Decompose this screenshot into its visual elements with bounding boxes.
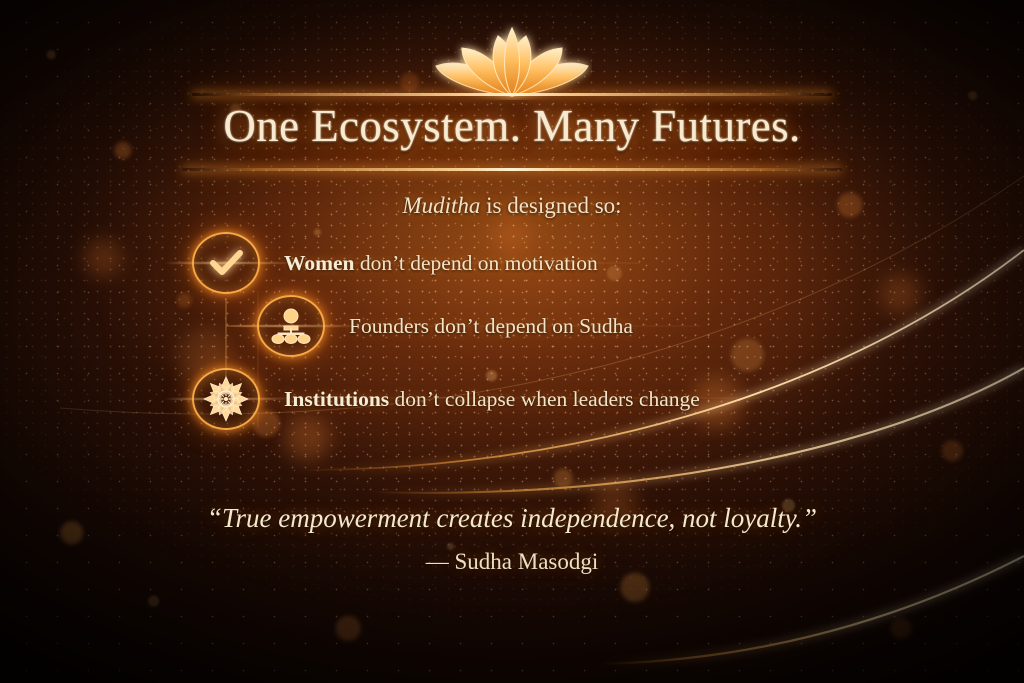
- list-item: Institutions don’t collapse when leaders…: [190, 364, 700, 434]
- quote-attribution: — Sudha Masodgi: [0, 549, 1024, 575]
- list-item-text: Women don’t depend on motivation: [284, 251, 598, 276]
- subtitle-emphasis: Muditha: [402, 193, 480, 218]
- page-title: One Ecosystem. Many Futures.: [0, 100, 1024, 152]
- slide-canvas: One Ecosystem. Many Futures. Muditha is …: [0, 0, 1024, 683]
- list-item-text: Institutions don’t collapse when leaders…: [284, 387, 700, 412]
- list-item-lead: Women: [284, 251, 354, 275]
- list-item-text: Founders don’t depend on Sudha: [349, 314, 633, 339]
- list-item: Women don’t depend on motivation: [190, 228, 598, 298]
- mandala-icon: [190, 364, 262, 434]
- divider-bottom: [182, 168, 842, 171]
- list-item-rest: Founders don’t depend on Sudha: [349, 314, 633, 338]
- list-item-rest: don’t depend on motivation: [354, 251, 597, 275]
- subtitle: Muditha is designed so:: [0, 193, 1024, 219]
- subtitle-rest: is designed so:: [480, 193, 621, 218]
- list-item-lead: Institutions: [284, 387, 389, 411]
- people-network-icon: [255, 291, 327, 361]
- checkmark-icon: [190, 228, 262, 298]
- list-item-rest: don’t collapse when leaders change: [389, 387, 700, 411]
- slide-content: One Ecosystem. Many Futures. Muditha is …: [0, 0, 1024, 683]
- list-item: Founders don’t depend on Sudha: [255, 291, 633, 361]
- lotus-icon: [432, 22, 592, 100]
- divider-top: [192, 93, 832, 96]
- quote-text: “True empowerment creates independence, …: [0, 503, 1024, 534]
